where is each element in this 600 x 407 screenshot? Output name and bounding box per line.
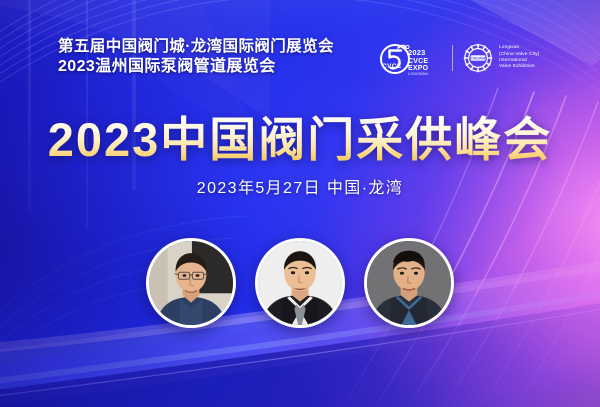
summit-date-location: 2023年5月27日 中国·龙湾 <box>0 174 600 198</box>
summit-main-title: 2023中国阀门采供峰会 <box>0 112 600 168</box>
logo-divider <box>452 45 453 71</box>
speaker-portrait-3 <box>364 238 454 328</box>
exhibition-titles: 第五届中国阀门城·龙湾国际阀门展览会 2023温州国际泵阀管道展览会 <box>58 38 358 76</box>
cvce-expo-logo: 2023 CVCE EXPO LONGWAN CVCE <box>378 40 442 76</box>
svg-text:LONGWAN: LONGWAN <box>469 56 487 60</box>
avatar <box>149 241 233 325</box>
avatar <box>367 241 451 325</box>
event-banner: 第五届中国阀门城·龙湾国际阀门展览会 2023温州国际泵阀管道展览会 2023 … <box>0 0 600 407</box>
banner-header: 第五届中国阀门城·龙湾国际阀门展览会 2023温州国际泵阀管道展览会 2023 … <box>0 38 600 90</box>
speaker-portrait-group <box>0 238 600 334</box>
cvce-logo-year: 2023 <box>408 49 442 57</box>
speaker-portrait-1 <box>146 238 236 328</box>
longwan-valve-logo: LONGWAN Longwan (China Valve City) Inter… <box>463 43 539 73</box>
exhibition-title-line2: 2023温州国际泵阀管道展览会 <box>58 57 358 76</box>
speaker-portrait-2 <box>255 238 345 328</box>
avatar <box>258 241 342 325</box>
cvce-logo-sub: LONGWAN <box>408 73 442 77</box>
cvce-logo-text: 2023 CVCE EXPO LONGWAN <box>408 49 442 76</box>
gear-emblem-icon: LONGWAN <box>463 43 493 73</box>
logo-group: 2023 CVCE EXPO LONGWAN CVCE <box>378 40 539 76</box>
longwan-logo-text: Longwan (China Valve City) International… <box>499 45 539 71</box>
cvce-logo-name: CVCE <box>382 63 402 70</box>
cvce-logo-expo: CVCE EXPO <box>408 58 442 72</box>
longwan-text-line4: Valve Exhibition <box>499 64 539 70</box>
exhibition-title-line1: 第五届中国阀门城·龙湾国际阀门展览会 <box>58 38 358 56</box>
